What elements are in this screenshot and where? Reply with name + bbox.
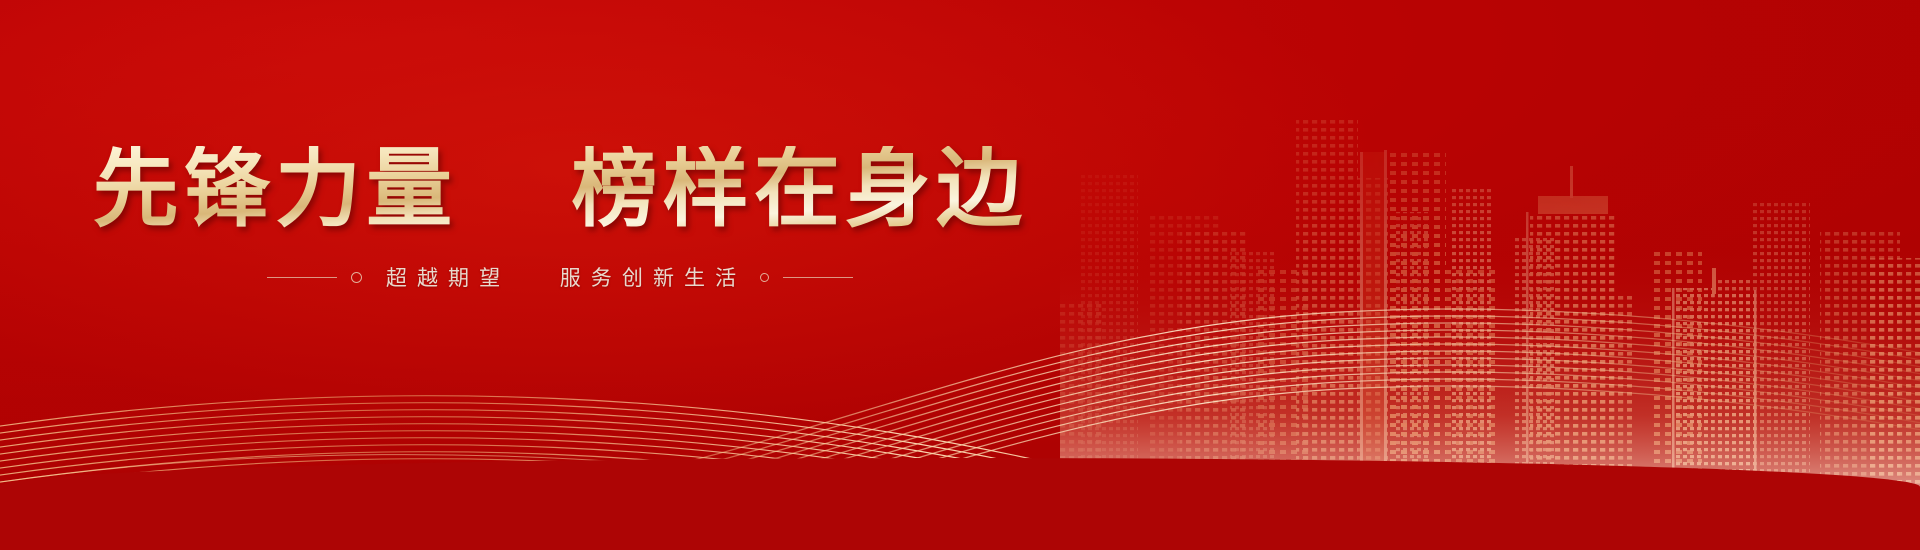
page-subtitle: 超越期望 服务创新生活 [376, 262, 746, 292]
right-rule [783, 277, 853, 278]
right-circle-icon [760, 273, 769, 282]
subtitle-part-2: 服务创新生活 [560, 266, 746, 290]
page-title: 先锋力量 榜样在身边 [93, 146, 1028, 232]
left-rule [267, 277, 337, 278]
left-circle-icon [351, 272, 362, 283]
subtitle-row: 超越期望 服务创新生活 [267, 262, 853, 292]
promo-banner: 先锋力量 榜样在身边 超越期望 服务创新生活 [0, 0, 1920, 550]
title-part-2: 榜样在身边 [572, 138, 1028, 239]
title-part-1: 先锋力量 [93, 138, 458, 239]
headline-block: 先锋力量 榜样在身边 超越期望 服务创新生活 [0, 0, 1120, 550]
subtitle-part-1: 超越期望 [386, 266, 510, 290]
